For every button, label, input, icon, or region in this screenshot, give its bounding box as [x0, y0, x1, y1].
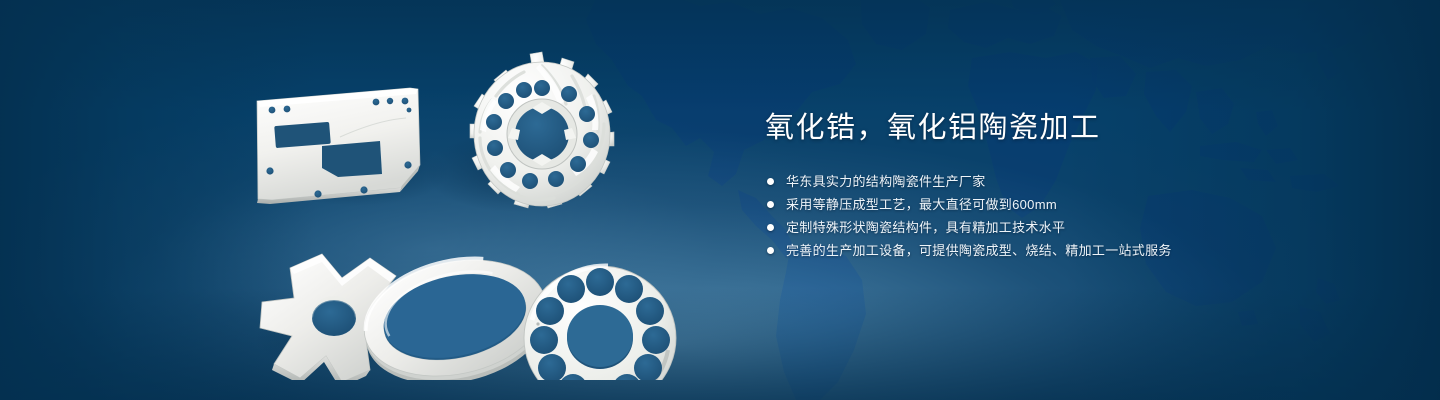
feature-text: 完善的生产加工设备，可提供陶瓷成型、烧结、精加工一站式服务 [786, 243, 1172, 258]
feature-text: 采用等静压成型工艺，最大直径可做到600mm [786, 197, 1057, 212]
feature-list: 华东具实力的结构陶瓷件生产厂家 采用等静压成型工艺，最大直径可做到600mm 定… [765, 170, 1385, 262]
bullet-dot-icon [767, 201, 774, 208]
bullet-dot-icon [767, 224, 774, 231]
promo-banner: 氧化锆，氧化铝陶瓷加工 华东具实力的结构陶瓷件生产厂家 采用等静压成型工艺，最大… [0, 0, 1440, 400]
feature-text: 华东具实力的结构陶瓷件生产厂家 [786, 174, 986, 189]
feature-list-item: 定制特殊形状陶瓷结构件，具有精加工技术水平 [765, 216, 1385, 239]
banner-copy: 氧化锆，氧化铝陶瓷加工 华东具实力的结构陶瓷件生产厂家 采用等静压成型工艺，最大… [765, 108, 1385, 262]
feature-text: 定制特殊形状陶瓷结构件，具有精加工技术水平 [786, 220, 1065, 235]
bullet-dot-icon [767, 178, 774, 185]
ceramic-products-image [230, 40, 700, 380]
bullet-dot-icon [767, 247, 774, 254]
ceramic-plate-part [257, 88, 420, 204]
banner-headline: 氧化锆，氧化铝陶瓷加工 [765, 108, 1385, 148]
ceramic-valve-disc-part [524, 266, 676, 380]
feature-list-item: 采用等静压成型工艺，最大直径可做到600mm [765, 193, 1385, 216]
feature-list-item: 华东具实力的结构陶瓷件生产厂家 [765, 170, 1385, 193]
feature-list-item: 完善的生产加工设备，可提供陶瓷成型、烧结、精加工一站式服务 [765, 239, 1385, 262]
